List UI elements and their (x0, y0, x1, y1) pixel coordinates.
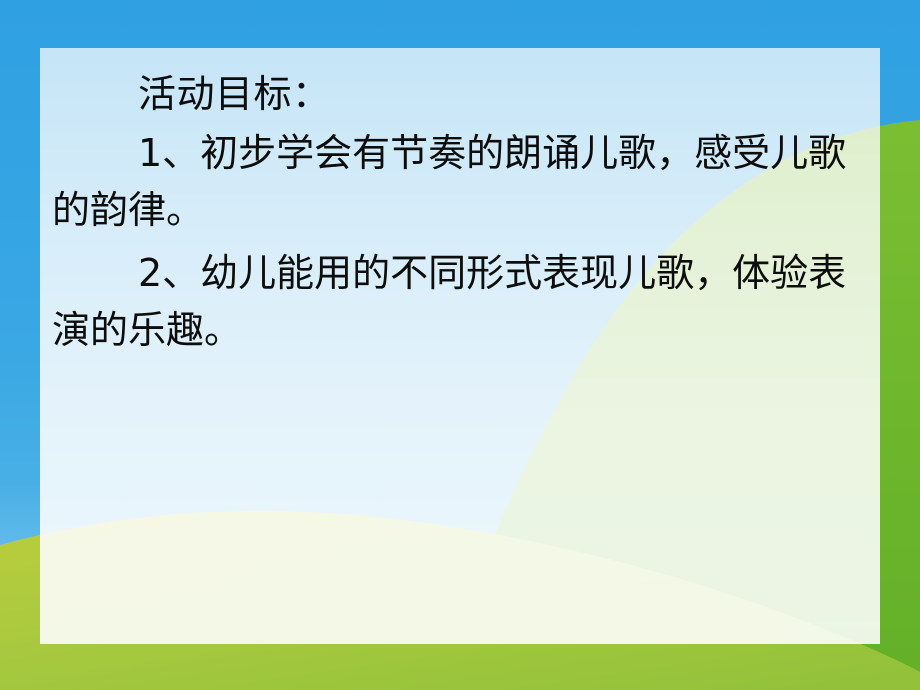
content-text-layer: 活动目标： 1、初步学会有节奏的朗诵儿歌，感受儿歌的韵律。 2、幼儿能用的不同形… (40, 48, 880, 644)
page-title: 活动目标： (40, 70, 880, 119)
slide: 活动目标： 1、初步学会有节奏的朗诵儿歌，感受儿歌的韵律。 2、幼儿能用的不同形… (0, 0, 920, 690)
objective-item-2: 2、幼儿能用的不同形式表现儿歌，体验表演的乐趣。 (40, 245, 880, 359)
objective-item-1: 1、初步学会有节奏的朗诵儿歌，感受儿歌的韵律。 (40, 125, 880, 239)
